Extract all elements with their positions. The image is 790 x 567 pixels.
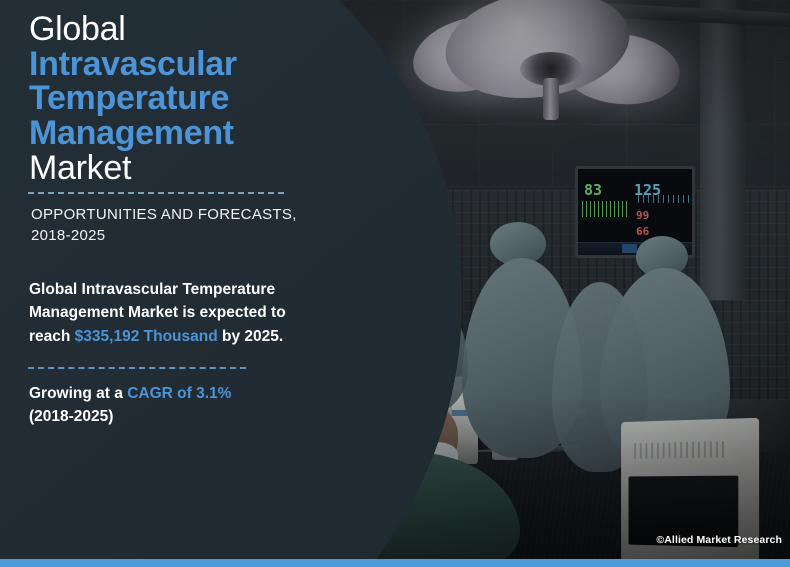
title-line-3: Temperature — [29, 81, 237, 116]
copyright-credit: ©Allied Market Research — [656, 534, 782, 546]
report-text-content: Global Intravascular Temperature Managem… — [0, 0, 330, 567]
title-line-2: Intravascular — [29, 47, 237, 82]
market-report-infographic: 00 00 83 125 99 66 — [0, 0, 790, 567]
cagr-statement: Growing at a CAGR of 3.1% (2018-2025) — [29, 382, 304, 429]
divider-top — [28, 192, 284, 194]
report-subtitle: OPPORTUNITIES AND FORECASTS, 2018-2025 — [31, 204, 311, 247]
title-line-5: Market — [29, 151, 237, 186]
bottom-accent-bar — [0, 559, 790, 567]
divider-bottom — [28, 367, 246, 369]
page-title: Global Intravascular Temperature Managem… — [29, 12, 237, 185]
title-line-1: Global — [29, 12, 237, 47]
statement-tail: by 2025. — [218, 328, 284, 345]
market-statement: Global Intravascular Temperature Managem… — [29, 278, 304, 348]
cagr-lead: Growing at a — [29, 385, 127, 402]
title-line-4: Management — [29, 116, 237, 151]
cagr-period: (2018-2025) — [29, 408, 113, 425]
statement-value: $335,192 Thousand — [75, 328, 218, 345]
cagr-value: CAGR of 3.1% — [127, 385, 231, 402]
